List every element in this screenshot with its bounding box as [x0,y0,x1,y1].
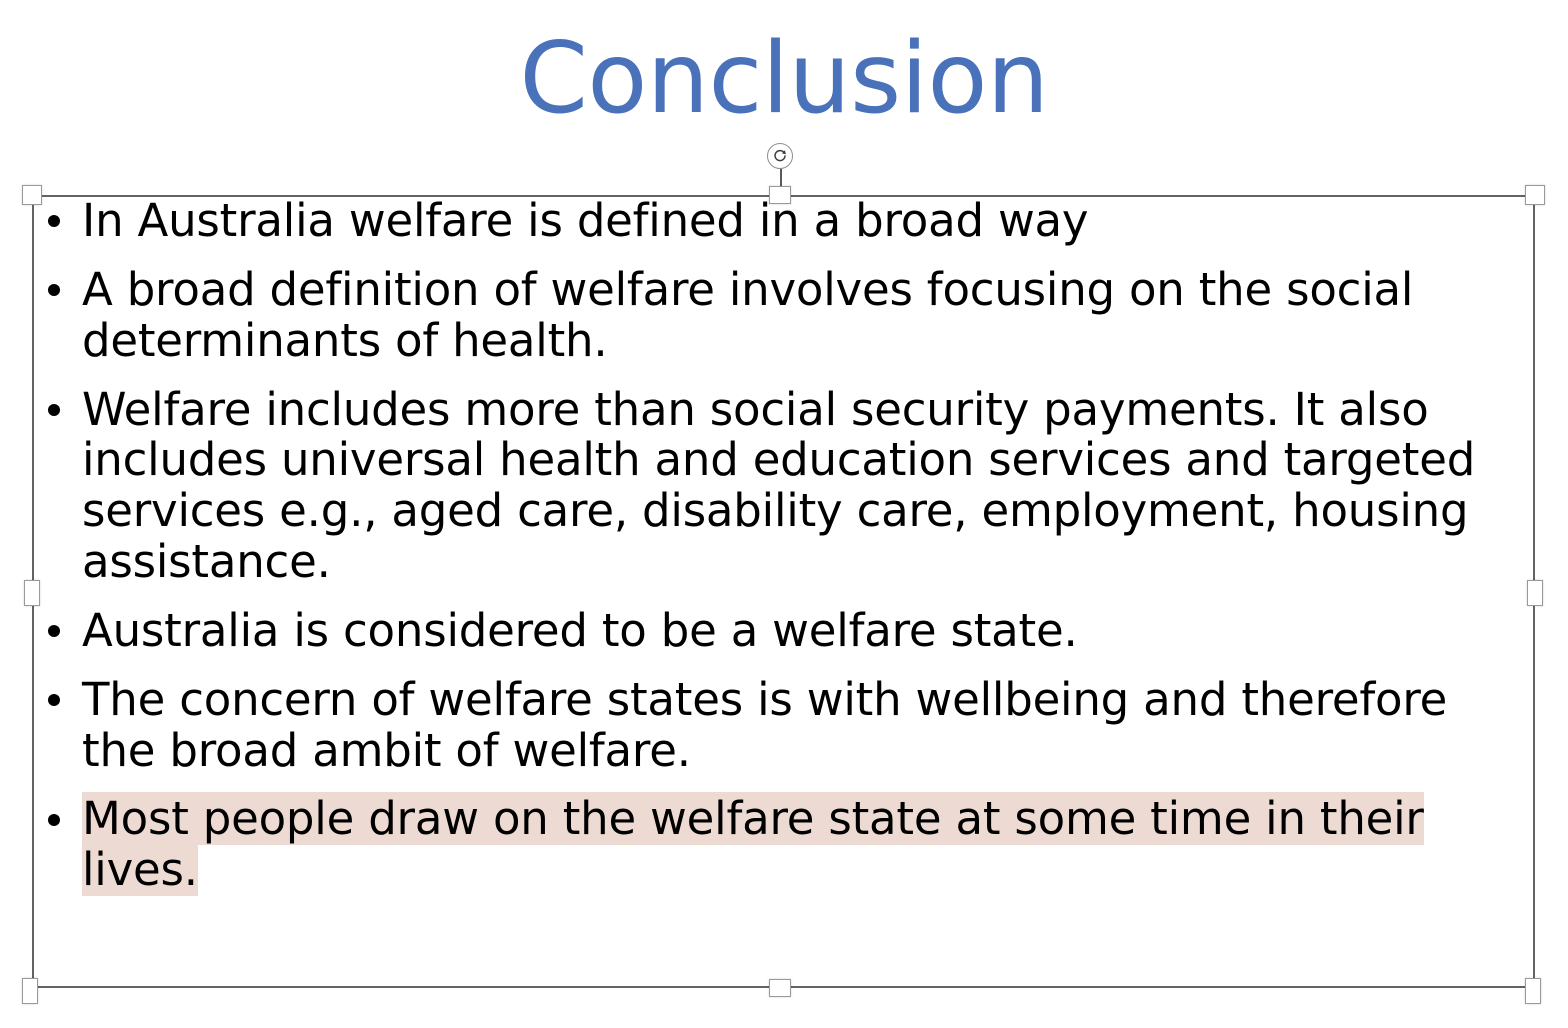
list-item-text: Australia is considered to be a welfare … [82,604,1078,657]
list-item[interactable]: The concern of welfare states is with we… [36,675,1531,777]
page-title: Conclusion [0,28,1568,131]
bullet-dot-icon [48,284,60,296]
bullet-dot-icon [48,404,60,416]
bullet-dot-icon [48,215,60,227]
bullet-list[interactable]: In Australia welfare is defined in a bro… [36,196,1531,902]
resize-handle-bottom-left[interactable] [22,978,38,1004]
list-item-text: The concern of welfare states is with we… [82,673,1447,777]
list-item-text: Most people draw on the welfare state at… [82,792,1424,896]
list-item[interactable]: Welfare includes more than social securi… [36,385,1531,588]
list-item[interactable]: In Australia welfare is defined in a bro… [36,196,1531,247]
rotate-handle-icon[interactable] [767,143,793,169]
list-item-text: In Australia welfare is defined in a bro… [82,194,1088,247]
list-item-text: Welfare includes more than social securi… [82,383,1475,589]
resize-handle-bottom-right[interactable] [1525,978,1541,1004]
list-item-text: A broad definition of welfare involves f… [82,263,1413,367]
bullet-dot-icon [48,814,60,826]
list-item[interactable]: Australia is considered to be a welfare … [36,606,1531,657]
bullet-dot-icon [48,694,60,706]
presentation-slide: Conclusion In Australia welfare is defin… [0,0,1568,1028]
resize-handle-bottom-center[interactable] [769,979,791,997]
list-item[interactable]: A broad definition of welfare involves f… [36,265,1531,367]
list-item[interactable]: Most people draw on the welfare state at… [36,794,1531,896]
bullet-dot-icon [48,625,60,637]
